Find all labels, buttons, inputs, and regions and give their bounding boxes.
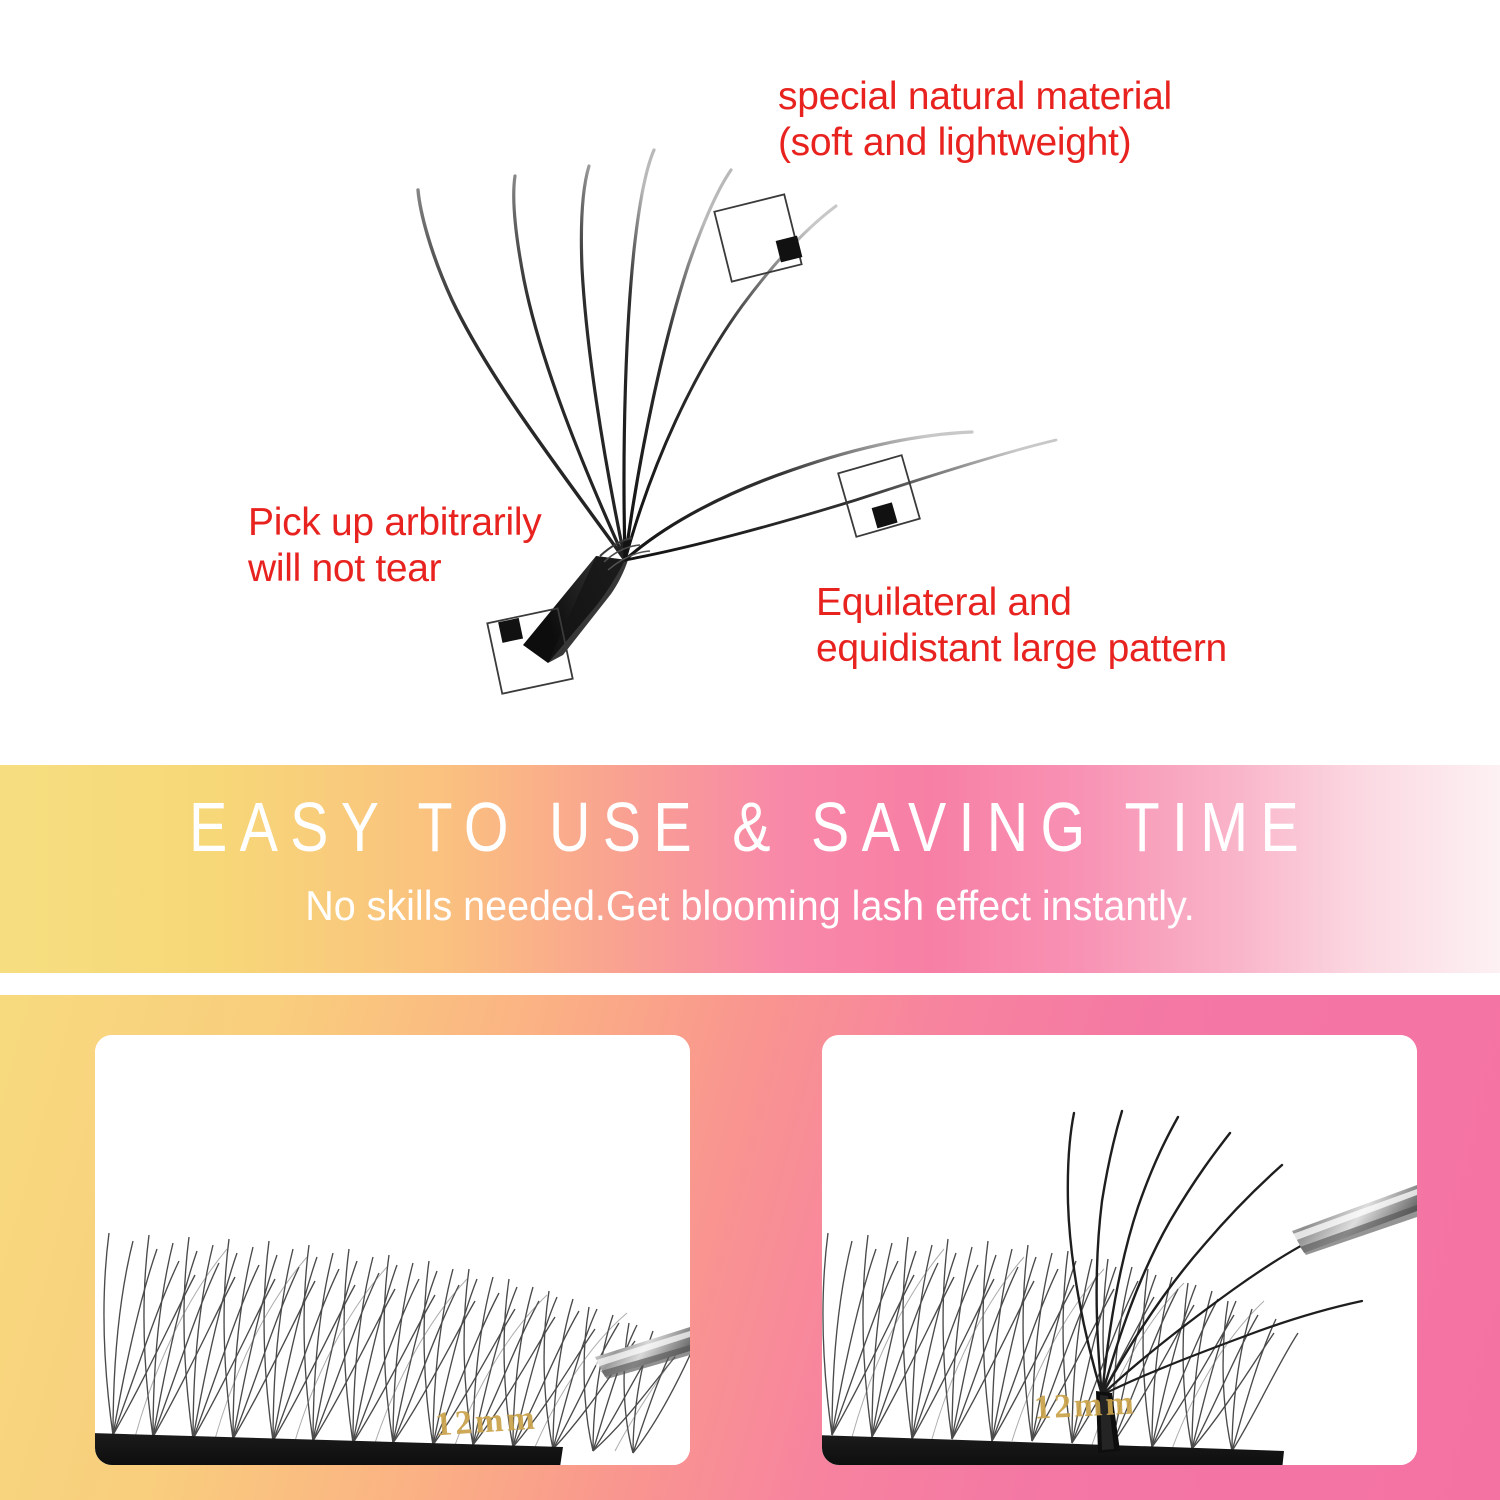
lash-length-label: 12mm bbox=[1033, 1384, 1138, 1427]
square-callout-marker-top bbox=[714, 194, 802, 281]
callout-equilateral-pattern: Equilateral and equidistant large patter… bbox=[816, 580, 1227, 671]
square-callout-marker-base bbox=[487, 608, 572, 693]
lash-fan-pickup-photo: 12mm bbox=[822, 1035, 1417, 1465]
banner-subheadline: No skills needed.Get blooming lash effec… bbox=[45, 882, 1455, 930]
top-illustration-section: special natural material (soft and light… bbox=[0, 0, 1500, 765]
square-callout-marker-right bbox=[838, 455, 920, 537]
lash-tray-with-tweezers-photo: 12mm bbox=[95, 1035, 690, 1465]
banner-headline: EASY TO USE & SAVING TIME bbox=[135, 787, 1365, 867]
lash-fan-illustration bbox=[0, 0, 1500, 765]
promo-banner: EASY TO USE & SAVING TIME No skills need… bbox=[0, 765, 1500, 973]
callout-pick-up-arbitrarily: Pick up arbitrarily will not tear bbox=[248, 500, 541, 591]
lash-length-label: 12mm bbox=[434, 1399, 539, 1444]
lash-tray-photo-graphic bbox=[95, 1035, 690, 1465]
callout-special-natural-material: special natural material (soft and light… bbox=[778, 74, 1172, 165]
